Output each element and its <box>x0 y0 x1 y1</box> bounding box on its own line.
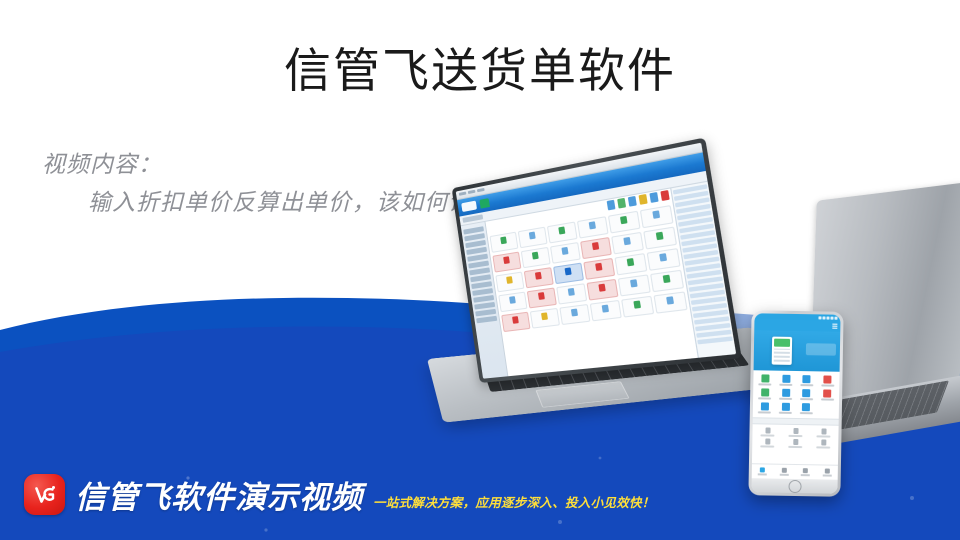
phone-stats-grid <box>752 424 838 451</box>
brand-tagline: 一站式解决方案，应用逐步深入、投入小见效快！ <box>373 495 655 515</box>
desktop-app-main-panel <box>485 189 698 379</box>
laptop-screen-content <box>456 143 736 379</box>
presentation-slide: 信管飞送货单软件 视频内容： 输入折扣单价反算出单价，该如何设置？ <box>0 0 960 540</box>
brand-name: 信管飞软件演示视频 <box>75 481 363 515</box>
device-showcase <box>420 178 960 478</box>
phone-feature-grid <box>753 370 840 418</box>
xinguanfei-logo-icon <box>24 474 65 515</box>
desktop-app-logo-icon <box>461 201 477 212</box>
laptop-front <box>435 183 795 463</box>
phone-hero-text-bubble <box>806 343 836 356</box>
logo-mark <box>24 474 65 515</box>
phone-hero-device-image <box>772 337 792 365</box>
bottom-banner: 信管飞软件演示视频 一站式解决方案，应用逐步深入、投入小见效快！ <box>0 455 960 540</box>
menu-icon[interactable] <box>832 324 837 329</box>
slide-title: 信管飞送货单软件 <box>0 43 960 101</box>
subtitle-label: 视频内容： <box>42 152 162 177</box>
phone-hero-banner <box>754 330 841 371</box>
desktop-app-active-tab <box>479 198 490 209</box>
